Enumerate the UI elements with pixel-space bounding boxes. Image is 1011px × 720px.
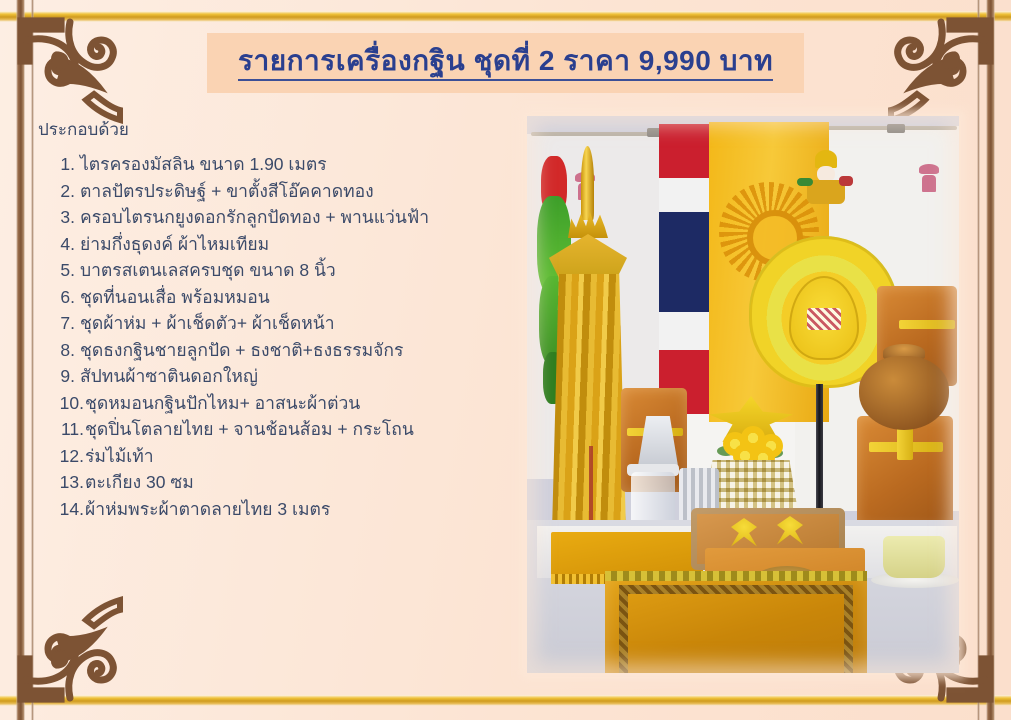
- fan-emblem: [807, 308, 841, 330]
- deva-figure-print: [797, 150, 855, 212]
- sheet-clip: [887, 124, 905, 133]
- list-item: 14.ผ้าห่มพระผ้าตาดลายไทย 3 เมตร: [44, 496, 514, 523]
- title-banner: รายการเครื่องกฐิน ชุดที่ 2 ราคา 9,990 บา…: [207, 33, 804, 93]
- list-item-text: ไตรครองมัสลิน ขนาด 1.90 เมตร: [80, 151, 327, 178]
- list-item-number: 7.: [44, 310, 80, 337]
- list-item: 3.ครอบไตรนกยูงดอกรักลูกปัดทอง + พานแว่นฟ…: [44, 204, 514, 231]
- list-item: 1.ไตรครองมัสลิน ขนาด 1.90 เมตร: [44, 151, 514, 178]
- contents-list: 1.ไตรครองมัสลิน ขนาด 1.90 เมตร 2.ตาลปัตร…: [44, 151, 514, 522]
- list-item-number: 8.: [44, 337, 80, 364]
- list-item-number: 14.: [44, 496, 85, 523]
- slide-canvas: รายการเครื่องกฐิน ชุดที่ 2 ราคา 9,990 บา…: [0, 0, 1011, 720]
- list-item-text: บาตรสเตนเลสครบชุด ขนาด 8 นิ้ว: [80, 257, 336, 284]
- list-item-number: 2.: [44, 178, 80, 205]
- thai-brocade-blanket: [605, 571, 867, 673]
- corner-flourish-icon: [0, 592, 128, 720]
- list-item-number: 11.: [44, 416, 85, 443]
- list-item: 2.ตาลปัตรประดิษฐ์ + ขาตั้งสีโอ๊คคาดทอง: [44, 178, 514, 205]
- list-item-number: 5.: [44, 257, 80, 284]
- list-item-number: 1.: [44, 151, 80, 178]
- list-item: 12.ร่มไม้เท้า: [44, 443, 514, 470]
- list-item-text: ชุดที่นอนเสื่อ พร้อมหมอน: [80, 284, 270, 311]
- corner-flourish-icon: [883, 0, 1011, 128]
- blanket-stripe: [605, 571, 867, 581]
- list-item: 13.ตะเกียง 30 ซม: [44, 469, 514, 496]
- list-item: 8.ชุดธงกฐินชายลูกปัด + ธงชาติ+ธงธรรมจักร: [44, 337, 514, 364]
- wrapped-offering-bundle: [857, 416, 953, 528]
- list-item: 7.ชุดผ้าห่ม + ผ้าเช็ดตัว+ ผ้าเช็ดหน้า: [44, 310, 514, 337]
- list-item-number: 12.: [44, 443, 85, 470]
- bottom-gold-border: [0, 695, 1011, 706]
- thai-national-flag: [659, 124, 711, 414]
- list-item: 4.ย่ามกึ่งธุดงค์ ผ้าไหมเทียม: [44, 231, 514, 258]
- list-item: 11.ชุดปิ่นโตลายไทย + จานช้อนส้อม + กระโถ…: [44, 416, 514, 443]
- list-item-text: ย่ามกึ่งธุดงค์ ผ้าไหมเทียม: [80, 231, 269, 258]
- top-gold-border: [0, 11, 1011, 22]
- list-item-text: ตาลปัตรประดิษฐ์ + ขาตั้งสีโอ๊คคาดทอง: [80, 178, 374, 205]
- list-item: 5.บาตรสเตนเลสครบชุด ขนาด 8 นิ้ว: [44, 257, 514, 284]
- list-item-number: 6.: [44, 284, 80, 311]
- fan-center: [789, 276, 859, 360]
- list-item-text: ชุดผ้าห่ม + ผ้าเช็ดตัว+ ผ้าเช็ดหน้า: [80, 310, 335, 337]
- spittoon-krathon: [883, 536, 945, 578]
- list-item-text: สัปทนผ้าซาตินดอกใหญ่: [80, 363, 258, 390]
- intro-label: ประกอบด้วย: [38, 116, 129, 143]
- list-item-number: 13.: [44, 469, 85, 496]
- list-item: 9.สัปทนผ้าซาตินดอกใหญ่: [44, 363, 514, 390]
- list-item-text: ชุดธงกฐินชายลูกปัด + ธงชาติ+ธงธรรมจักร: [80, 337, 403, 364]
- list-item-text: ชุดหมอนกฐินปักไหม+ อาสนะผ้าต่วน: [85, 390, 360, 417]
- list-item-number: 10.: [44, 390, 85, 417]
- list-item-number: 9.: [44, 363, 80, 390]
- list-item: 10.ชุดหมอนกฐินปักไหม+ อาสนะผ้าต่วน: [44, 390, 514, 417]
- list-item-text: ตะเกียง 30 ซม: [85, 469, 194, 496]
- list-item-number: 3.: [44, 204, 80, 231]
- umbrella-finial: [581, 146, 594, 220]
- kathina-set-photo: [527, 116, 959, 673]
- corner-flourish-icon: [0, 0, 128, 128]
- brown-ceramic-pot: [859, 356, 949, 430]
- page-title: รายการเครื่องกฐิน ชุดที่ 2 ราคา 9,990 บา…: [238, 45, 773, 80]
- royal-emblem-print: [919, 164, 939, 192]
- list-item-number: 4.: [44, 231, 80, 258]
- list-item-text: ครอบไตรนกยูงดอกรักลูกปัดทอง + พานแว่นฟ้า: [80, 204, 429, 231]
- flower-cluster: [717, 424, 787, 466]
- list-item: 6.ชุดที่นอนเสื่อ พร้อมหมอน: [44, 284, 514, 311]
- list-item-text: ชุดปิ่นโตลายไทย + จานช้อนส้อม + กระโถน: [85, 416, 414, 443]
- list-item-text: ผ้าห่มพระผ้าตาดลายไทย 3 เมตร: [85, 496, 330, 523]
- blanket-border: [619, 585, 853, 673]
- list-item-text: ร่มไม้เท้า: [85, 443, 154, 470]
